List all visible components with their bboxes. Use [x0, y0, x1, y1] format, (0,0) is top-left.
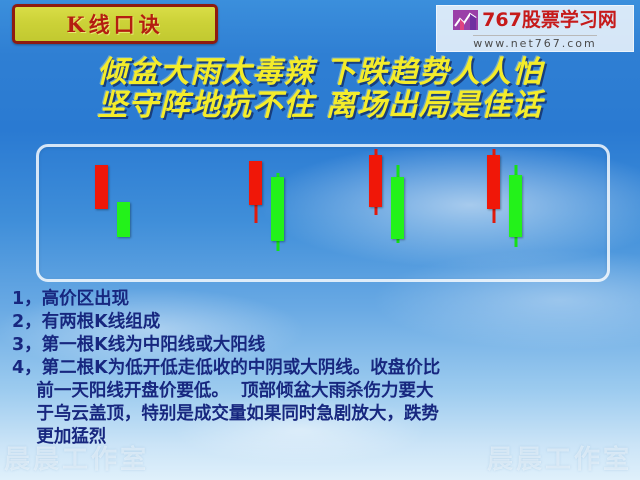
page-title: K线口诀: [66, 9, 163, 39]
site-logo[interactable]: 767股票学习网 www.net767.com: [436, 5, 634, 52]
logo-name: 767股票学习网: [482, 11, 617, 30]
candle-body: [509, 175, 522, 237]
candle-body: [95, 165, 108, 209]
list-item: 2，有两根K线组成: [12, 311, 630, 334]
candle-bullish: [95, 147, 108, 279]
list-item: 4，第二根K为低开低走低收的中阴或大阴线。收盘价比 前一天阳线开盘价要低。 顶部…: [12, 357, 630, 449]
logo-row: 767股票学习网: [453, 8, 617, 32]
watermark-right: 晨晨工作室: [487, 439, 632, 476]
headline-couplet: 倾盆大雨太毒辣 下跌趋势人人怕 坚守阵地抗不住 离场出局是佳话: [0, 56, 640, 122]
slide-canvas: K线口诀 767股票学习网 www.net767.com 倾盆大雨太毒辣 下跌趋…: [0, 0, 640, 480]
candle-bullish: [369, 147, 382, 279]
notes-list: 1，高价区出现 2，有两根K线组成 3，第一根K线为中阳线或大阳线 4，第二根K…: [12, 288, 630, 449]
candle-body: [117, 202, 130, 237]
candle-bullish: [487, 147, 500, 279]
chart-trend-icon: [453, 10, 478, 30]
candle-bearish: [391, 147, 404, 279]
candle-body: [271, 177, 284, 241]
candle-bearish: [117, 147, 130, 279]
list-item: 1，高价区出现: [12, 288, 630, 311]
couplet-line-2: 坚守阵地抗不住 离场出局是佳话: [0, 89, 640, 122]
candlestick-chart-panel: [36, 144, 610, 282]
candle-bullish: [249, 147, 262, 279]
watermark-left: 晨晨工作室: [4, 439, 149, 476]
candle-bearish: [271, 147, 284, 279]
list-item: 3，第一根K线为中阳线或大阳线: [12, 334, 630, 357]
candle-bearish: [509, 147, 522, 279]
couplet-line-1: 倾盆大雨太毒辣 下跌趋势人人怕: [0, 56, 640, 89]
candle-body: [391, 177, 404, 239]
candle-body: [249, 161, 262, 205]
candle-body: [487, 155, 500, 209]
title-banner: K线口诀: [12, 4, 218, 44]
candle-body: [369, 155, 382, 207]
logo-url: www.net767.com: [473, 35, 597, 49]
